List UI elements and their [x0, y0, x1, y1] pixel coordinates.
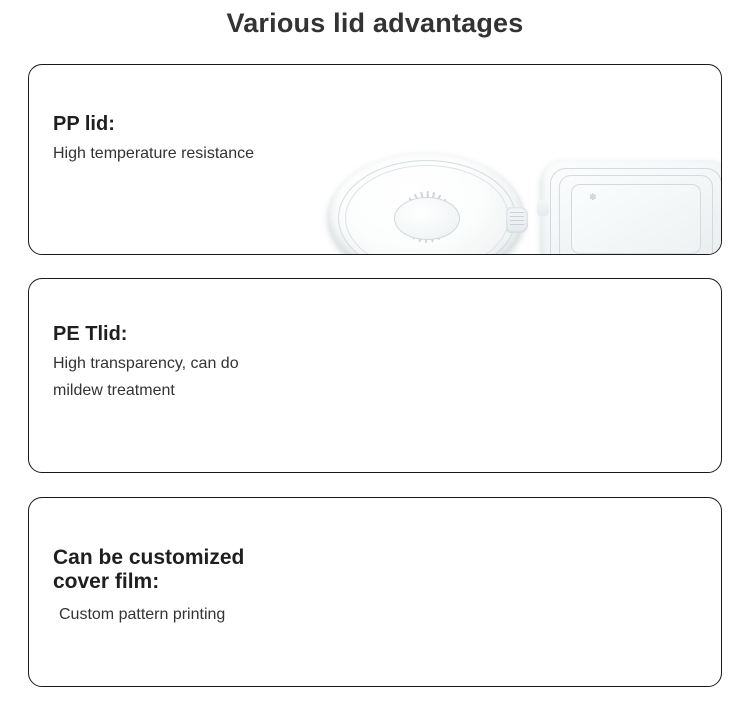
rectangular-pp-lid-notch: [537, 200, 549, 216]
round-pp-lid-image: [328, 153, 528, 255]
card-pp-lid-heading: PP lid:: [53, 113, 254, 136]
card-custom-cover-film-text: Can be customized cover film: Custom pat…: [53, 546, 244, 628]
card-pe-tlid-text: PE Tlid: High transparency, can do milde…: [53, 323, 239, 404]
card-pe-tlid: PE Tlid: High transparency, can do milde…: [28, 278, 722, 473]
rectangular-pp-lid-emboss-mark: ✽: [589, 192, 597, 203]
round-pp-lid-tab: [506, 207, 528, 233]
card-pp-lid-description: High temperature resistance: [53, 140, 254, 167]
card-custom-cover-film: Can be customized cover film: Custom pat…: [28, 497, 722, 687]
card-pp-lid: PP lid: High temperature resistance: [28, 64, 722, 255]
card-custom-cover-film-description: Custom pattern printing: [53, 602, 244, 628]
card-pp-lid-text: PP lid: High temperature resistance: [53, 113, 254, 167]
card-pe-tlid-heading: PE Tlid:: [53, 323, 239, 346]
round-pp-lid-center-hub: [394, 197, 460, 240]
rectangular-pp-lid-image: ✽: [541, 160, 722, 255]
card-custom-cover-film-heading: Can be customized cover film:: [53, 546, 244, 594]
infographic-page: Various lid advantages PP lid: High temp…: [0, 0, 750, 713]
page-title: Various lid advantages: [0, 8, 750, 39]
card-pe-tlid-description: High transparency, can do mildew treatme…: [53, 350, 239, 404]
